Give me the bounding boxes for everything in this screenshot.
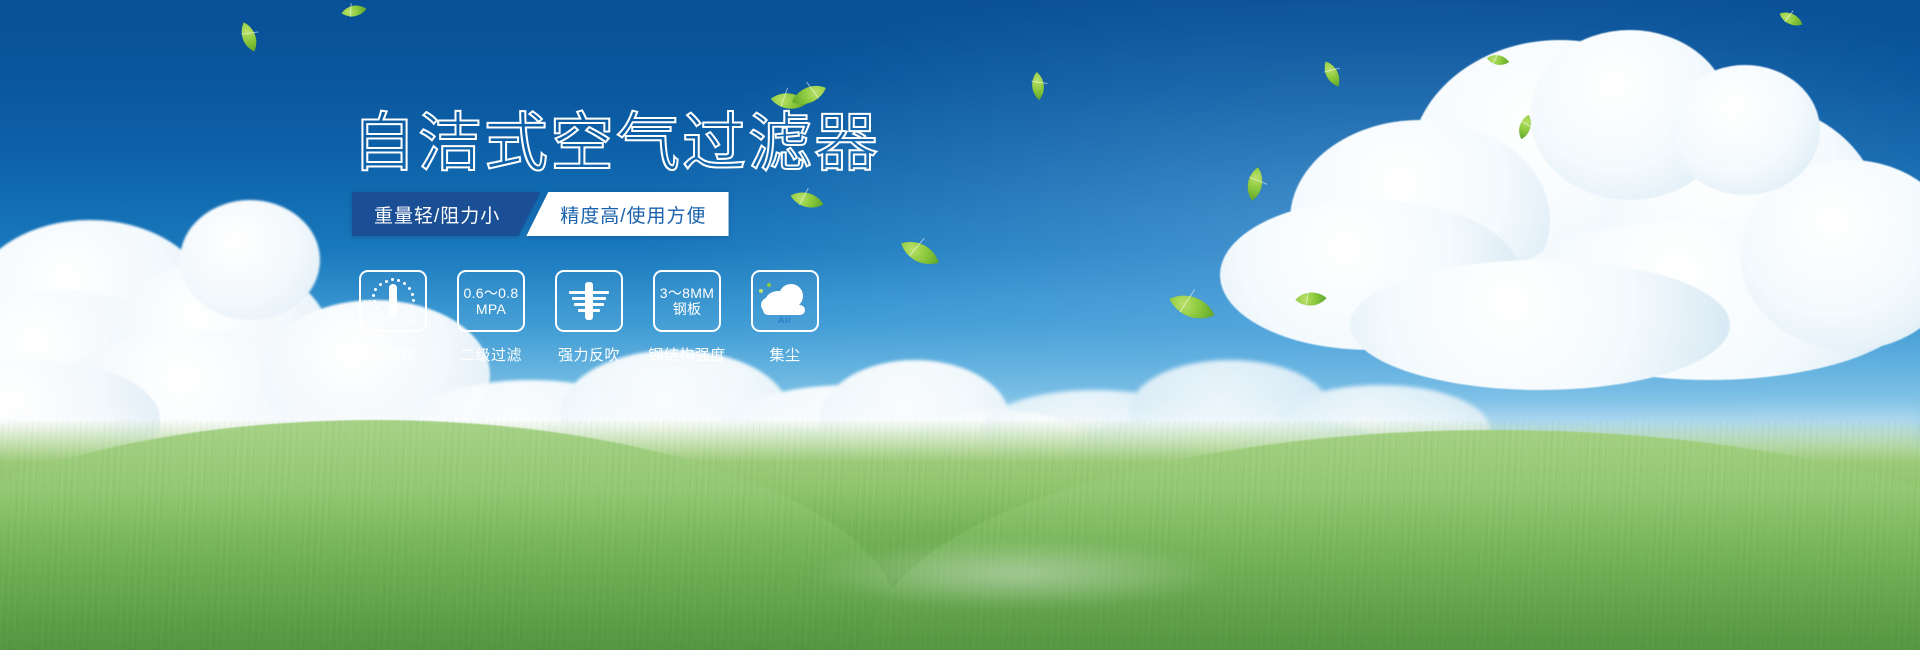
- feature-unit: 钢板: [660, 301, 714, 317]
- feature-value: 0.6～0.8: [463, 285, 518, 301]
- feature-item-control[interactable]: NO OFF 控制仪: [358, 270, 428, 365]
- filter-stack-icon: [567, 278, 611, 324]
- feature-label: 二级过滤: [460, 344, 522, 365]
- feature-label: 强力反吹: [558, 344, 620, 365]
- feature-box: [555, 270, 623, 332]
- steel-plate-text-icon: 3～8MM 钢板: [660, 285, 714, 317]
- feature-box: Air: [751, 270, 819, 332]
- feature-box: 0.6～0.8 MPA: [457, 270, 525, 332]
- gauge-label-off: OFF: [408, 319, 419, 325]
- page-title: 自洁式空气过滤器: [352, 112, 880, 176]
- hero-banner: 自洁式空气过滤器 重量轻/阻力小 精度高/使用方便: [0, 0, 1920, 650]
- feature-label: 控制仪: [370, 344, 417, 365]
- badge-secondary: 精度高/使用方便: [526, 192, 728, 236]
- feature-label: 集尘: [769, 344, 800, 365]
- leaf-icon: [792, 78, 826, 112]
- feature-item-filter[interactable]: 0.6～0.8 MPA 二级过滤: [456, 270, 526, 365]
- feature-value: 3～8MM: [660, 285, 714, 301]
- gauge-dial-icon: NO OFF: [365, 276, 421, 326]
- air-label: Air: [759, 315, 811, 325]
- feature-unit: MPA: [463, 301, 518, 317]
- title-block: 自洁式空气过滤器: [352, 112, 880, 176]
- title-leaf-decoration: [776, 82, 832, 120]
- subtitle-badge: 重量轻/阻力小 精度高/使用方便: [352, 192, 729, 236]
- pressure-text-icon: 0.6～0.8 MPA: [463, 285, 518, 317]
- feature-box: NO OFF: [359, 270, 427, 332]
- gauge-label-no: NO: [364, 300, 372, 306]
- badge-primary: 重量轻/阻力小: [352, 192, 540, 236]
- feature-label: 钢结构强度: [648, 344, 726, 365]
- banner-content: 自洁式空气过滤器 重量轻/阻力小 精度高/使用方便: [0, 0, 1920, 650]
- feature-box: 3～8MM 钢板: [653, 270, 721, 332]
- air-cloud-icon: Air: [759, 279, 811, 323]
- feature-item-steel[interactable]: 3～8MM 钢板 钢结构强度: [652, 270, 722, 365]
- feature-item-dust[interactable]: Air 集尘: [750, 270, 820, 365]
- feature-list: NO OFF 控制仪 0.6～0.8 MPA 二级过滤: [358, 270, 820, 365]
- feature-item-blowback[interactable]: 强力反吹: [554, 270, 624, 365]
- leaf-icon: [771, 83, 807, 119]
